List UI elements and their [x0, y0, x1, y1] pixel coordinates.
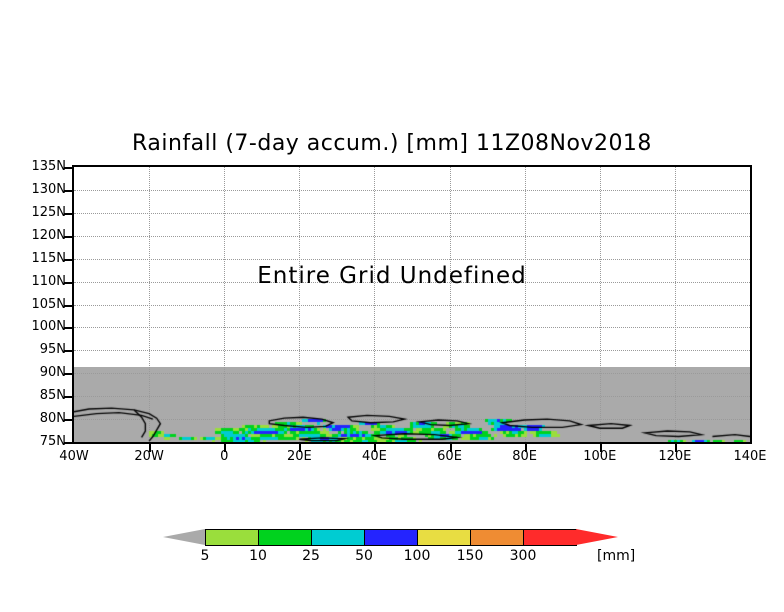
map-plot-area [72, 165, 752, 444]
ytick-mark-130N [64, 190, 72, 192]
colorbar-cell-4 [417, 529, 471, 546]
colorbar-unit-label: [mm] [597, 548, 635, 564]
ytick-label-105N: 105N [20, 297, 66, 312]
undefined-grid-message: Entire Grid Undefined [0, 263, 784, 289]
chart-title: Rainfall (7-day accum.) [mm] 11Z08Nov201… [0, 131, 784, 156]
ytick-label-120N: 120N [20, 228, 66, 243]
ytick-mark-125N [64, 213, 72, 215]
ytick-label-80N: 80N [20, 411, 66, 426]
ytick-mark-90N [64, 373, 72, 375]
xtick-mark-20W [149, 444, 151, 452]
ytick-label-90N: 90N [20, 365, 66, 380]
xtick-mark-80E [525, 444, 527, 452]
ytick-label-95N: 95N [20, 342, 66, 357]
colorbar-cell-0 [205, 529, 259, 546]
ytick-mark-110N [64, 282, 72, 284]
colorbar-tick-25: 25 [281, 548, 341, 564]
xtick-mark-120E [675, 444, 677, 452]
colorbar-tick-10: 10 [228, 548, 288, 564]
colorbar-cell-6 [523, 529, 577, 546]
ytick-label-125N: 125N [20, 205, 66, 220]
colorbar-low-arrow [163, 529, 205, 545]
ytick-label-100N: 100N [20, 319, 66, 334]
ytick-label-135N: 135N [20, 159, 66, 174]
colorbar-cell-5 [470, 529, 524, 546]
xtick-mark-60E [450, 444, 452, 452]
map-plot-inner [74, 167, 750, 442]
ytick-label-110N: 110N [20, 274, 66, 289]
xtick-mark-0 [224, 444, 226, 452]
ytick-mark-75N [64, 442, 72, 444]
colorbar-tick-150: 150 [440, 548, 500, 564]
ytick-label-130N: 130N [20, 182, 66, 197]
xtick-mark-20E [299, 444, 301, 452]
ytick-mark-135N [64, 167, 72, 169]
ytick-mark-100N [64, 327, 72, 329]
xtick-label-40W: 40W [44, 449, 104, 464]
colorbar-tick-300: 300 [493, 548, 553, 564]
colorbar-cell-1 [258, 529, 312, 546]
xtick-mark-40E [374, 444, 376, 452]
ytick-mark-105N [64, 305, 72, 307]
xtick-label-140E: 140E [720, 449, 780, 464]
ytick-label-115N: 115N [20, 251, 66, 266]
plot-canvas: Rainfall (7-day accum.) [mm] 11Z08Nov201… [0, 0, 784, 612]
ytick-mark-95N [64, 350, 72, 352]
colorbar [163, 529, 618, 546]
ytick-label-85N: 85N [20, 388, 66, 403]
ytick-mark-85N [64, 396, 72, 398]
ytick-mark-115N [64, 259, 72, 261]
rainfall-field [74, 167, 750, 442]
ytick-label-75N: 75N [20, 434, 66, 449]
colorbar-tick-5: 5 [175, 548, 235, 564]
ytick-mark-120N [64, 236, 72, 238]
colorbar-high-arrow [576, 529, 618, 545]
colorbar-tick-100: 100 [387, 548, 447, 564]
ytick-mark-80N [64, 419, 72, 421]
colorbar-cell-3 [364, 529, 418, 546]
xtick-mark-100E [600, 444, 602, 452]
colorbar-cell-2 [311, 529, 365, 546]
colorbar-tick-50: 50 [334, 548, 394, 564]
